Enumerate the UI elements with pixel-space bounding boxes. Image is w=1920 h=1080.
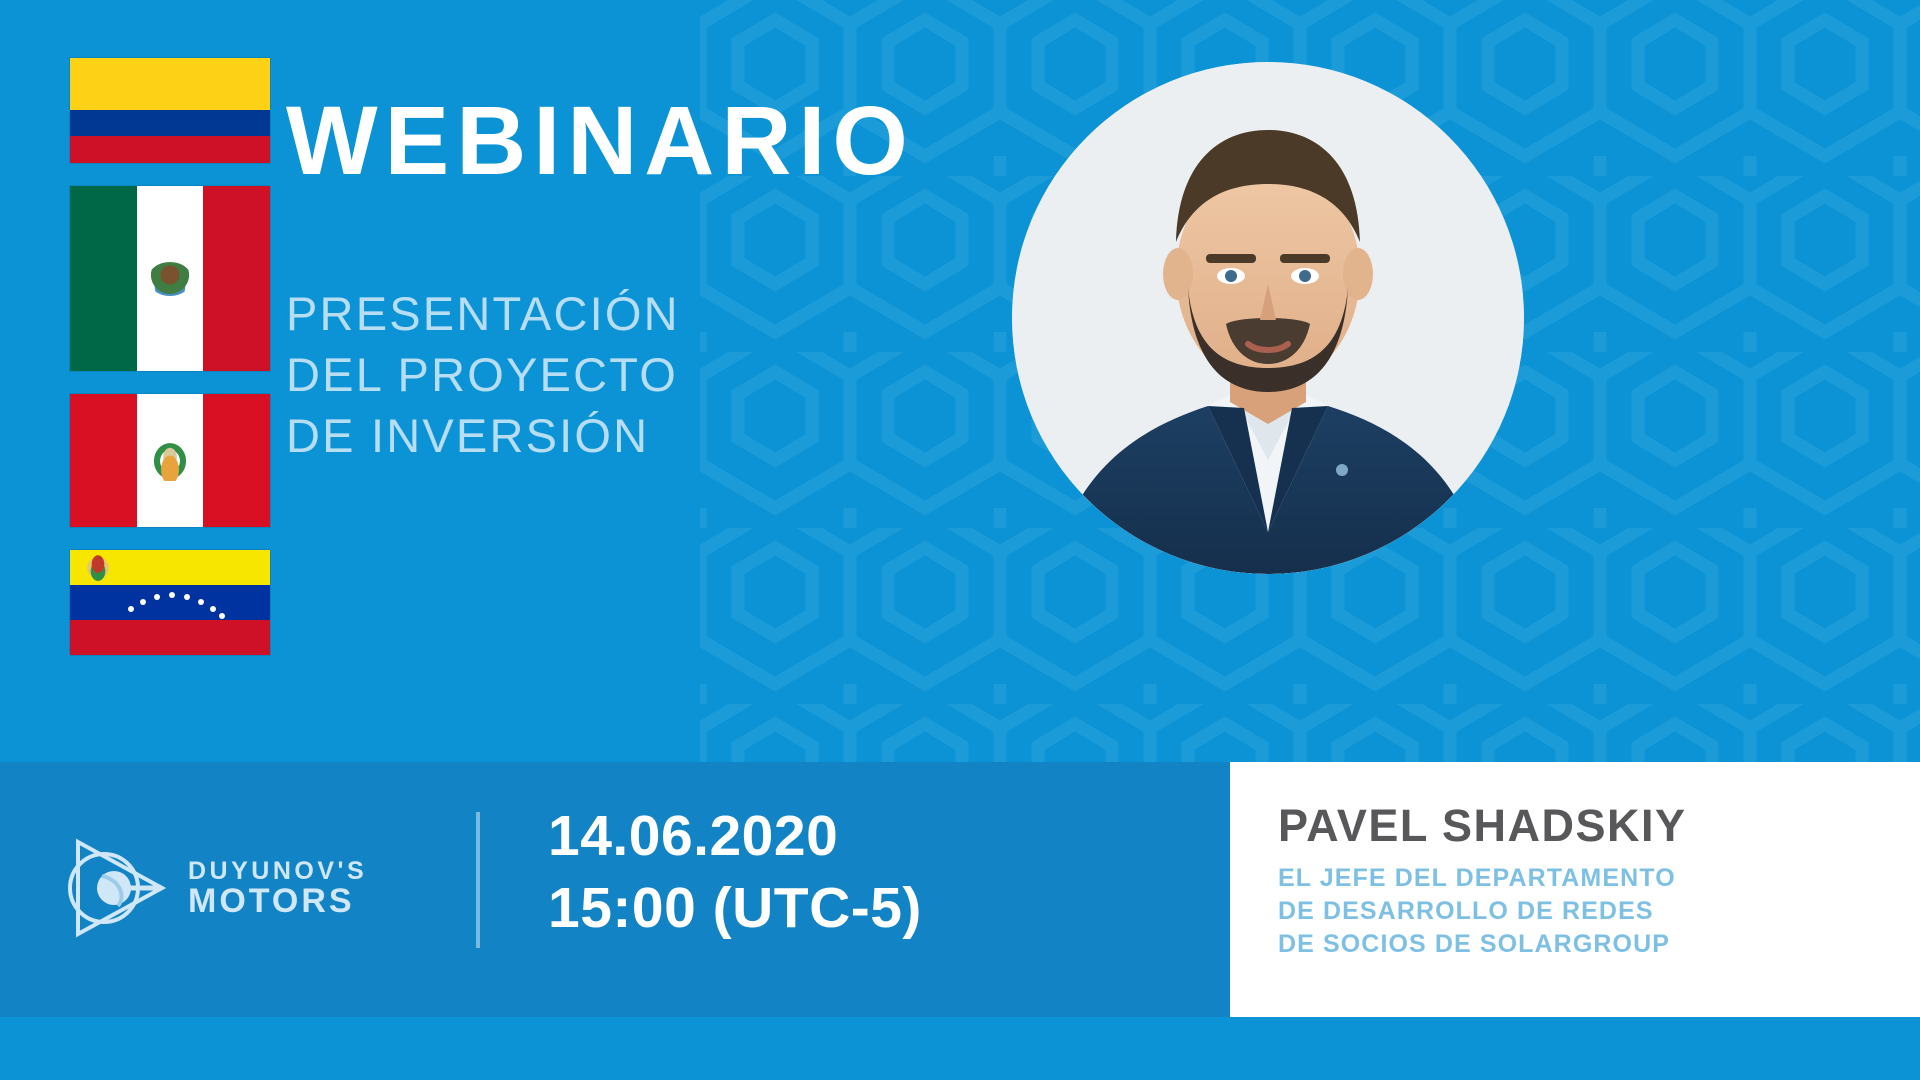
peru-coat-of-arms-icon (152, 441, 188, 481)
brand-logo-line-2: MOTORS (188, 884, 367, 918)
mexico-flag-white-band (137, 186, 204, 371)
page-subtitle: PRESENTACIÓN DEL PROYECTO DE INVERSIÓN (286, 283, 680, 466)
brand-logo-text: DUYUNOV'S MOTORS (188, 859, 367, 918)
speaker-job-title-line-1: EL JEFE DEL DEPARTAMENTO (1278, 862, 1676, 895)
event-time: 15:00 (UTC-5) (548, 872, 922, 944)
venezuela-flag-yellow-band (70, 550, 270, 585)
footer-divider (476, 812, 480, 948)
mexico-coat-of-arms-icon (148, 262, 192, 296)
flag-column (70, 58, 270, 678)
colombia-flag-yellow-band (70, 58, 270, 110)
footer-accent-strip (0, 1017, 1920, 1080)
venezuela-stars-arc (70, 585, 270, 620)
colombia-flag-red-band (70, 136, 270, 163)
speaker-portrait-photo (1012, 62, 1524, 574)
page-title: WEBINARIO (286, 92, 915, 189)
speaker-avatar (1012, 62, 1524, 574)
speaker-job-title: EL JEFE DEL DEPARTAMENTO DE DESARROLLO D… (1278, 862, 1676, 961)
webinar-banner: WEBINARIO PRESENTACIÓN DEL PROYECTO DE I… (0, 0, 1920, 1080)
peru-flag-left-red-band (70, 394, 137, 527)
peru-flag-white-band (137, 394, 204, 527)
venezuela-flag (70, 550, 270, 655)
colombia-flag (70, 58, 270, 163)
colombia-flag-blue-band (70, 110, 270, 136)
speaker-card: PAVEL SHADSKIY EL JEFE DEL DEPARTAMENTO … (1230, 762, 1920, 1017)
event-date: 14.06.2020 (548, 800, 922, 872)
speaker-job-title-line-3: DE SOCIOS DE SOLARGROUP (1278, 928, 1676, 961)
brand-logo-line-1: DUYUNOV'S (188, 859, 367, 884)
mexico-flag (70, 186, 270, 371)
mexico-flag-green-band (70, 186, 137, 371)
venezuela-coat-of-arms-icon (86, 555, 110, 581)
peru-flag (70, 394, 270, 527)
brand-logo: DUYUNOV'S MOTORS (62, 836, 367, 940)
subtitle-line-1: PRESENTACIÓN (286, 283, 680, 344)
speaker-name: PAVEL SHADSKIY (1278, 800, 1687, 852)
venezuela-flag-blue-band (70, 585, 270, 620)
subtitle-line-3: DE INVERSIÓN (286, 405, 680, 466)
peru-flag-right-red-band (203, 394, 270, 527)
subtitle-line-2: DEL PROYECTO (286, 344, 680, 405)
speaker-job-title-line-2: DE DESARROLLO DE REDES (1278, 895, 1676, 928)
event-datetime: 14.06.2020 15:00 (UTC-5) (548, 800, 922, 944)
duyunov-motors-logo-icon (62, 836, 170, 940)
mexico-flag-red-band (203, 186, 270, 371)
venezuela-flag-red-band (70, 620, 270, 655)
